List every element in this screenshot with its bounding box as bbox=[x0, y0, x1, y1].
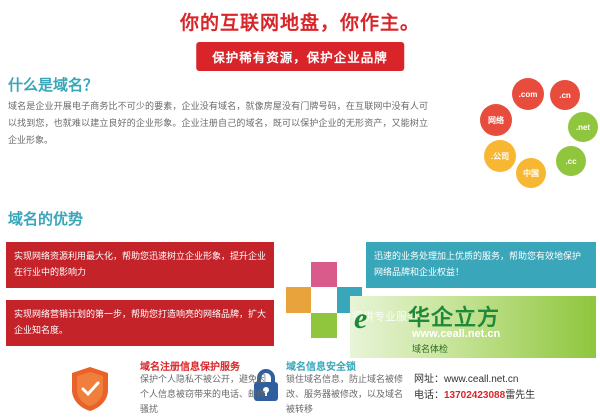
section-title-what-is-domain: 什么是域名？ bbox=[8, 74, 98, 95]
section-body-what-is-domain: 域名是企业开展电子商务比不可少的要素，企业没有域名，就像房屋没有门牌号码，在互联… bbox=[8, 98, 428, 149]
hero-subtitle-badge: 保护稀有资源，保护企业品牌 bbox=[196, 42, 404, 71]
flower-petal-cc: .cc bbox=[556, 146, 586, 176]
banner-tagline: 域名体检 bbox=[412, 342, 448, 355]
feature-title-registration-protection: 域名注册信息保护服务 bbox=[140, 358, 240, 373]
advantage-block-1: 实现网络资源利用最大化，帮助您迅速树立企业形象，提升企业在行业中的影响力 bbox=[6, 242, 274, 288]
feature-body-security-lock: 锁住域名信息，防止域名被修改、服务器被修改，以及域名被转移 bbox=[286, 372, 406, 417]
contact-website-label: 网址： bbox=[414, 374, 444, 385]
flower-petal-wangluo: 网络 bbox=[480, 104, 512, 136]
page-title: 你的互联网地盘，你作主。 bbox=[0, 8, 600, 35]
contact-person: 雷先生 bbox=[505, 390, 535, 401]
page-root: 你的互联网地盘，你作主。 保护稀有资源，保护企业品牌 什么是域名？ 域名是企业开… bbox=[0, 0, 600, 416]
contact-phone-value: 13702423088 bbox=[444, 390, 505, 401]
flower-petal-com: .com bbox=[512, 78, 544, 110]
contact-phone-label: 电话： bbox=[414, 390, 444, 401]
feature-body-registration-protection: 保护个人隐私不被公开，避免因个人信息被窃带来的电话、邮件骚扰 bbox=[140, 372, 268, 417]
feature-title-security-lock: 域名信息安全锁 bbox=[286, 358, 356, 373]
section-title-advantages: 域名的优势 bbox=[8, 208, 83, 229]
contact-website-value: www.ceall.net.cn bbox=[444, 374, 518, 385]
banner-url: www.ceall.net.cn bbox=[412, 328, 500, 340]
flower-petal-china: 中国 bbox=[516, 158, 546, 188]
flower-petal-cn: .cn bbox=[550, 80, 580, 110]
brand-banner: 提供专业服务 e 华企立方 www.ceall.net.cn 域名体检 bbox=[350, 296, 596, 358]
flower-petal-gongsi: .公司 bbox=[484, 140, 516, 172]
shield-icon bbox=[70, 366, 110, 412]
contact-info: 网址：www.ceall.net.cn 电话：13702423088雷先生 bbox=[414, 372, 535, 404]
advantage-block-2: 实现网络营销计划的第一步，帮助您打造响亮的网络品牌，扩大企业知名度。 bbox=[6, 300, 274, 346]
advantage-block-3: 迅速的业务处理加上优质的服务，帮助您有效地保护网络品牌和企业权益！ bbox=[366, 242, 596, 288]
domain-flower-diagram: .com .cn .net .cc 中国 .公司 网络 bbox=[480, 78, 598, 196]
flower-petal-net: .net bbox=[568, 112, 598, 142]
banner-logo-letter: e bbox=[354, 302, 367, 336]
